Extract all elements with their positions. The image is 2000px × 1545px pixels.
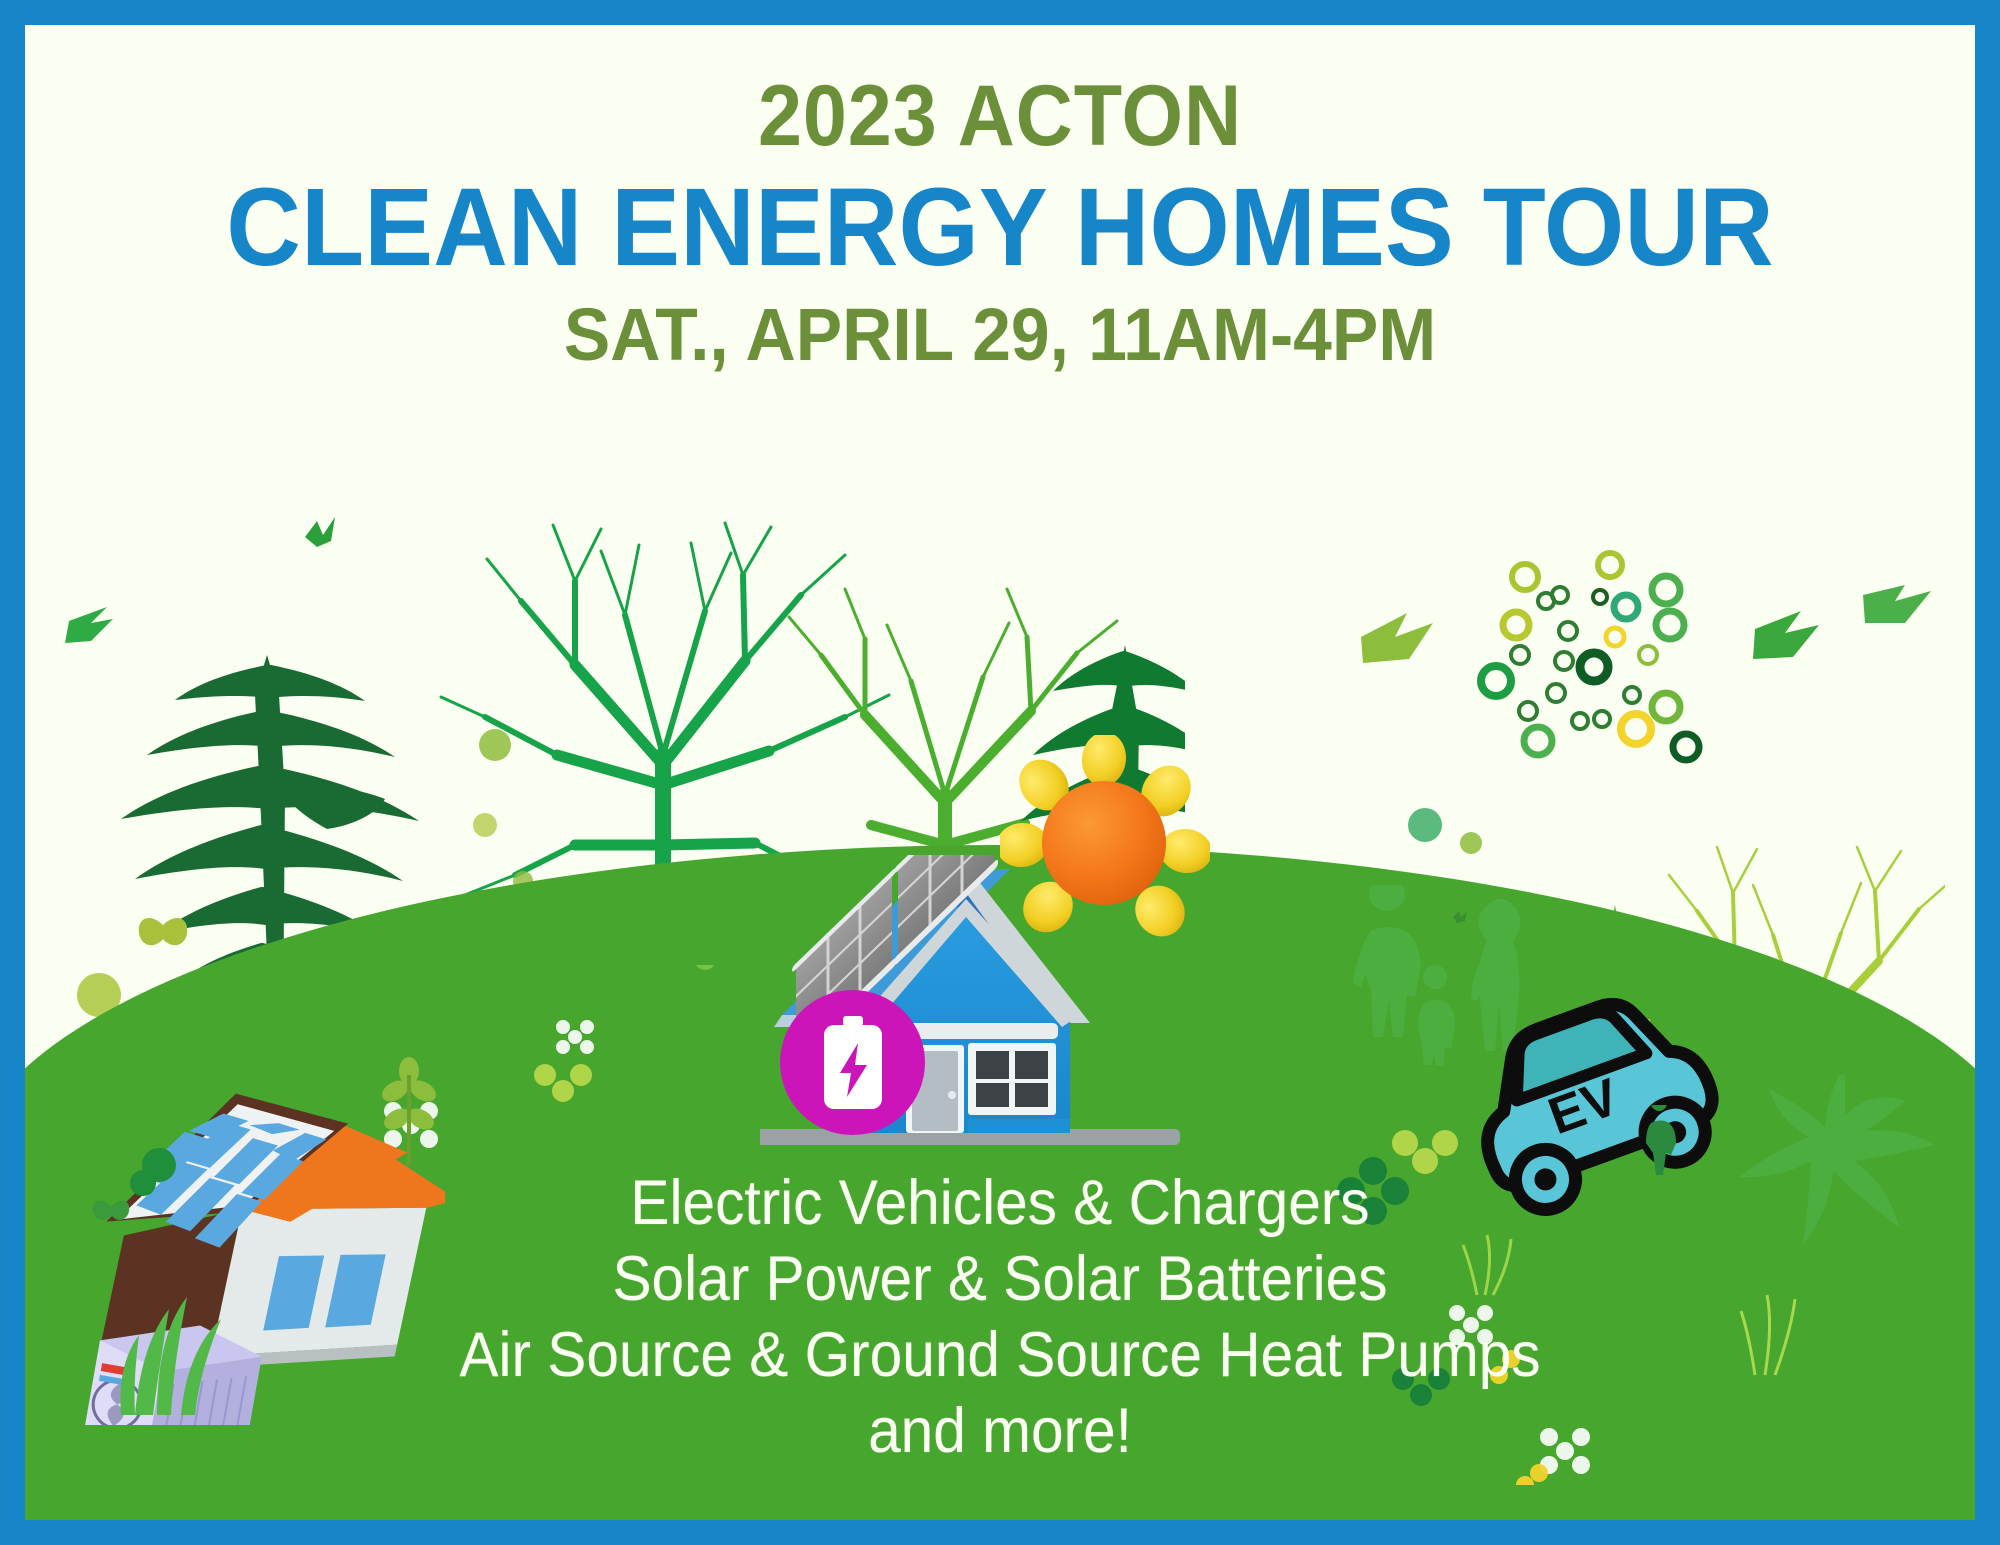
feature-line-2: Solar Power & Solar Batteries: [93, 1241, 1907, 1317]
battery-badge: [780, 990, 925, 1135]
feature-list: Electric Vehicles & Chargers Solar Power…: [25, 1165, 1975, 1469]
bird-icon: [305, 517, 335, 547]
flower-icon: [556, 1020, 594, 1054]
headline-date: SAT., APRIL 29, 11AM-4PM: [84, 296, 1917, 374]
battery-icon: [820, 1015, 886, 1111]
bird-icon: [1863, 585, 1931, 623]
feature-line-3: Air Source & Ground Source Heat Pumps: [93, 1317, 1907, 1393]
clover-icon: [534, 1064, 592, 1102]
plant-sprig-decor: [375, 1045, 445, 1165]
headline-main: CLEAN ENERGY HOMES TOUR: [84, 169, 1917, 288]
bird-icon: [65, 607, 113, 643]
poster-canvas: EV: [25, 25, 1975, 1520]
feature-line-1: Electric Vehicles & Chargers: [93, 1165, 1907, 1241]
bubble-cluster-decor: [1460, 545, 1710, 765]
butterfly-icon: [139, 918, 187, 945]
right-bird-group: [1745, 585, 1965, 725]
bird-icon: [1361, 613, 1433, 663]
feature-line-4: and more!: [93, 1393, 1907, 1469]
clover-icon: [676, 965, 734, 970]
bird-icon: [1753, 611, 1819, 659]
headline-year: 2023 ACTON: [103, 73, 1897, 159]
poster-frame: EV: [0, 0, 2000, 1545]
poster-headline: 2023 ACTON CLEAN ENERGY HOMES TOUR SAT.,…: [25, 73, 1975, 373]
left-bird-upper: [1355, 585, 1475, 675]
butterfly-icon: [1453, 911, 1467, 923]
